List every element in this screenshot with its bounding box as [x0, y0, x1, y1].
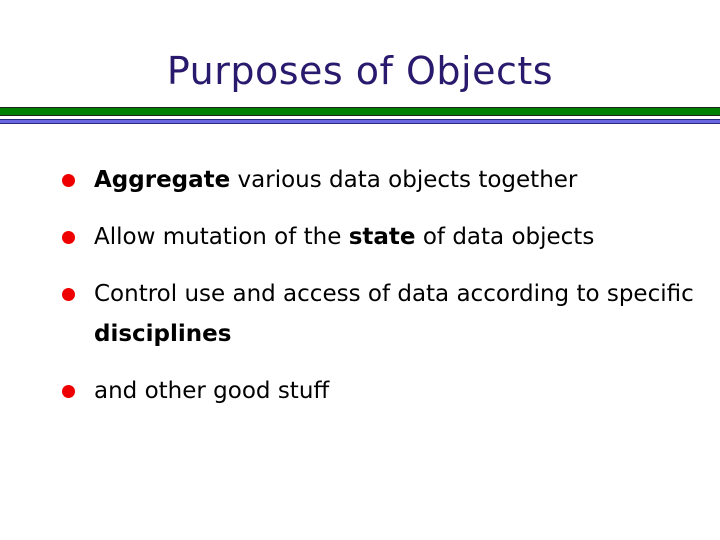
plain-text: Allow mutation of the: [94, 224, 349, 250]
bullet-dot-icon: [62, 288, 75, 301]
page-title: Purposes of Objects: [0, 48, 720, 94]
divider-blue-rule: [0, 119, 720, 124]
plain-text: Control use and access of data according…: [94, 281, 694, 307]
bullet-list: Aggregate various data objects togetherA…: [58, 160, 698, 411]
list-item-label: Control use and access of data according…: [94, 274, 698, 354]
bullet-dot-icon: [62, 385, 75, 398]
divider-green-rule: [0, 107, 720, 116]
list-item-label: Allow mutation of the state of data obje…: [94, 217, 698, 257]
slide-canvas: Purposes of Objects Aggregate various da…: [0, 0, 720, 540]
plain-text: various data objects together: [230, 167, 577, 193]
plain-text: of data objects: [416, 224, 595, 250]
list-item: Control use and access of data according…: [58, 274, 698, 354]
list-item: Allow mutation of the state of data obje…: [58, 217, 698, 257]
plain-text: and other good stuff: [94, 378, 329, 404]
title-divider: [0, 107, 720, 124]
list-item-label: Aggregate various data objects together: [94, 160, 698, 200]
emphasis-text: Aggregate: [94, 167, 230, 193]
emphasis-text: state: [349, 224, 416, 250]
bullet-dot-icon: [62, 174, 75, 187]
list-item-label: and other good stuff: [94, 371, 698, 411]
list-item: Aggregate various data objects together: [58, 160, 698, 200]
emphasis-text: disciplines: [94, 321, 231, 347]
list-item: and other good stuff: [58, 371, 698, 411]
bullet-dot-icon: [62, 231, 75, 244]
